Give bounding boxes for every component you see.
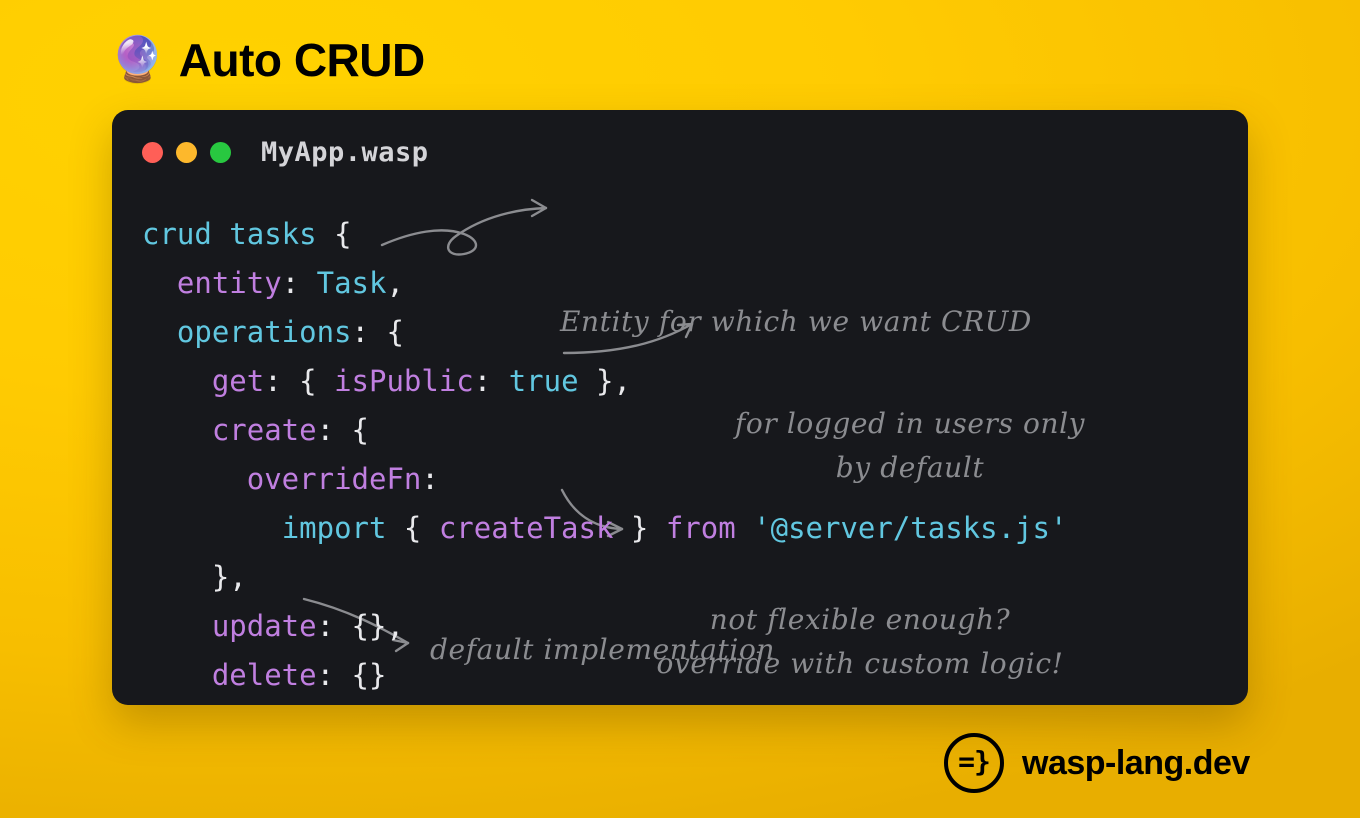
code-token: : {} (317, 658, 387, 692)
code-token: delete (212, 658, 317, 692)
code-token (142, 609, 212, 643)
code-token: : (474, 364, 509, 398)
code-token: : (282, 266, 317, 300)
minimize-button-icon[interactable] (176, 142, 197, 163)
code-token: : { (317, 413, 369, 447)
close-button-icon[interactable] (142, 142, 163, 163)
page-background: 🔮 Auto CRUD MyApp.wasp (0, 0, 1360, 818)
code-token: '@server/tasks.js' (753, 511, 1067, 545)
code-window: MyApp.wasp crud tasks { entity: Task, op… (112, 110, 1248, 705)
code-token: : { (264, 364, 334, 398)
wasp-logo-icon: =} (944, 733, 1004, 793)
crystal-ball-icon: 🔮 (110, 38, 165, 82)
annotation-auth-note-line1: for logged in users only (710, 402, 1110, 446)
code-token: from (666, 511, 736, 545)
code-token (142, 266, 177, 300)
code-token: update (212, 609, 317, 643)
code-token: createTask (439, 511, 614, 545)
code-window-titlebar: MyApp.wasp (112, 110, 1248, 194)
code-token (142, 413, 212, 447)
code-token: get (212, 364, 264, 398)
maximize-button-icon[interactable] (210, 142, 231, 163)
code-line: }, (142, 553, 1067, 602)
code-token: import (282, 511, 387, 545)
code-token: }, (579, 364, 631, 398)
traffic-lights (142, 142, 231, 163)
code-token: overrideFn (247, 462, 422, 496)
page-title-text: Auto CRUD (179, 37, 425, 83)
filename-label: MyApp.wasp (261, 137, 429, 168)
code-token (142, 315, 177, 349)
code-token: : {}, (317, 609, 404, 643)
code-token: create (212, 413, 317, 447)
code-token: crud tasks (142, 217, 334, 251)
code-token (142, 462, 247, 496)
code-token: : { (352, 315, 404, 349)
code-token: { (386, 511, 438, 545)
code-line: import { createTask } from '@server/task… (142, 504, 1067, 553)
code-token: true (509, 364, 579, 398)
code-token: }, (142, 560, 247, 594)
code-line: get: { isPublic: true }, (142, 357, 1067, 406)
code-token (142, 658, 212, 692)
code-token: Task (317, 266, 387, 300)
annotation-auth-note-line2: by default (710, 446, 1110, 490)
code-token: { (334, 217, 351, 251)
code-token: : (421, 462, 438, 496)
code-token: entity (177, 266, 282, 300)
wasp-lang-logo[interactable]: =} wasp-lang.dev (944, 733, 1250, 793)
page-title: 🔮 Auto CRUD (110, 26, 425, 94)
code-token: } (613, 511, 665, 545)
code-token (736, 511, 753, 545)
code-line: crud tasks { (142, 210, 1067, 259)
annotation-default-impl-note: default implementation (430, 628, 775, 672)
code-token: operations (177, 315, 352, 349)
wasp-logo-glyph: =} (958, 748, 990, 776)
code-line: } (142, 700, 1067, 705)
code-token: , (386, 266, 403, 300)
code-token (142, 511, 282, 545)
wasp-logo-text: wasp-lang.dev (1022, 744, 1250, 783)
code-token: isPublic (334, 364, 474, 398)
annotation-entity-note: Entity for which we want CRUD (560, 300, 1032, 344)
code-token (142, 364, 212, 398)
